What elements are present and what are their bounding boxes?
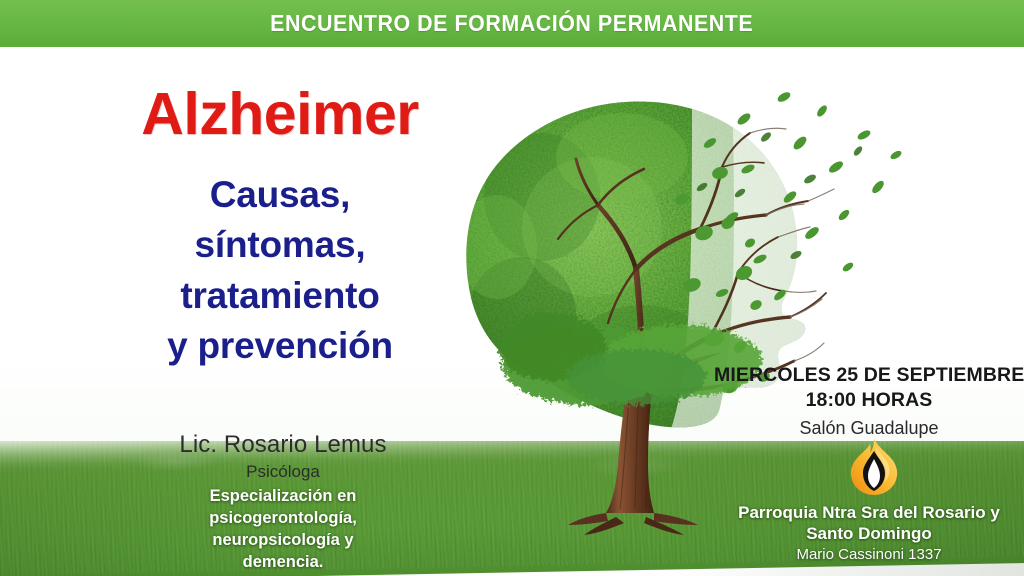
subtitle-line-2: síntomas, bbox=[120, 220, 440, 270]
speaker-specialization: Especialización en psicogerontología, ne… bbox=[118, 486, 448, 573]
organizer-name: Parroquia Ntra Sra del Rosario y Santo D… bbox=[714, 502, 1024, 544]
poster-canvas: ENCUENTRO DE FORMACIÓN PERMANENTE Alzhei… bbox=[0, 0, 1024, 576]
organizer-block: Parroquia Ntra Sra del Rosario y Santo D… bbox=[714, 502, 1024, 564]
subtitle-line-3: tratamiento bbox=[120, 271, 440, 321]
banner-title: ENCUENTRO DE FORMACIÓN PERMANENTE bbox=[270, 10, 753, 37]
organizer-address: Mario Cassinoni 1337 bbox=[714, 546, 1024, 564]
header-banner: ENCUENTRO DE FORMACIÓN PERMANENTE bbox=[0, 0, 1024, 47]
organizer-name-line-1: Parroquia Ntra Sra del Rosario y bbox=[714, 502, 1024, 523]
organizer-name-line-2: Santo Domingo bbox=[714, 523, 1024, 544]
subtitle-line-1: Causas, bbox=[120, 170, 440, 220]
flame-lily-parish-logo-icon bbox=[843, 437, 905, 499]
event-details-block: MIERCOLES 25 DE SEPTIEMBRE 18:00 HORAS S… bbox=[714, 363, 1024, 441]
subtitle-block: Causas, síntomas, tratamiento y prevenci… bbox=[120, 170, 440, 371]
specialization-line-1: Especialización en bbox=[118, 486, 448, 508]
event-date: MIERCOLES 25 DE SEPTIEMBRE bbox=[714, 363, 1024, 388]
speaker-role: Psicóloga bbox=[118, 462, 448, 482]
disease-title: Alzheimer bbox=[120, 85, 440, 144]
subtitle-line-4: y prevención bbox=[120, 321, 440, 371]
headline-block: Alzheimer Causas, síntomas, tratamiento … bbox=[120, 85, 440, 371]
speaker-block: Lic. Rosario Lemus Psicóloga Especializa… bbox=[118, 432, 448, 573]
head-profile-tree-illustration bbox=[392, 47, 912, 547]
specialization-line-4: demencia. bbox=[118, 552, 448, 574]
specialization-line-3: neuropsicología y bbox=[118, 530, 448, 552]
specialization-line-2: psicogerontología, bbox=[118, 508, 448, 530]
speaker-name: Lic. Rosario Lemus bbox=[118, 432, 448, 459]
event-time: 18:00 HORAS bbox=[714, 388, 1024, 413]
